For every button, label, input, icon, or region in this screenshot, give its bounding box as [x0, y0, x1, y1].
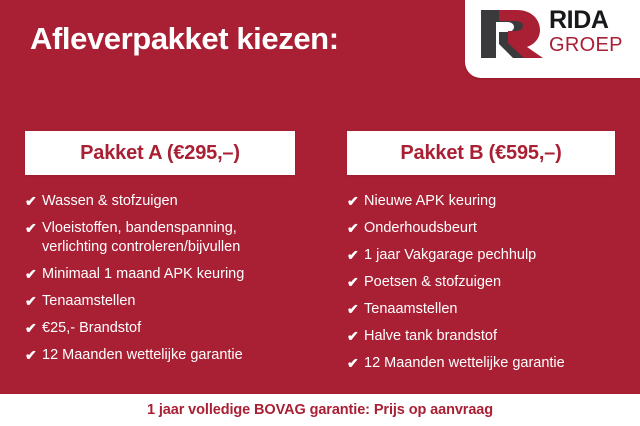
list-item: ✔ 1 jaar Vakgarage pechhulp — [347, 246, 615, 265]
check-icon: ✔ — [347, 246, 364, 265]
footer-banner: 1 jaar volledige BOVAG garantie: Prijs o… — [0, 394, 640, 426]
promo-banner: Afleverpakket kiezen: RIDA GROEP Pakket … — [0, 0, 640, 426]
feature-label: Poetsen & stofzuigen — [364, 273, 615, 292]
list-item: ✔ 12 Maanden wettelijke garantie — [347, 354, 615, 373]
footer-guarantee-text: 1 jaar volledige BOVAG garantie: Prijs o… — [147, 402, 493, 418]
package-card-a[interactable]: Pakket A (€295,–) ✔ Wassen & stofzuigen … — [25, 131, 295, 373]
list-item: ✔ Nieuwe APK keuring — [347, 192, 615, 211]
feature-label: Tenaamstellen — [364, 300, 615, 319]
feature-label: €25,- Brandstof — [42, 319, 295, 338]
logo-name-primary: RIDA — [549, 8, 623, 33]
list-item: ✔ 12 Maanden wettelijke garantie — [25, 346, 295, 365]
check-icon: ✔ — [25, 346, 42, 365]
list-item: ✔ €25,- Brandstof — [25, 319, 295, 338]
package-a-header[interactable]: Pakket A (€295,–) — [25, 131, 295, 175]
feature-label: Nieuwe APK keuring — [364, 192, 615, 211]
package-b-header[interactable]: Pakket B (€595,–) — [347, 131, 615, 175]
feature-label: Halve tank brandstof — [364, 327, 615, 346]
page-title: Afleverpakket kiezen: — [30, 21, 339, 57]
package-b-feature-list: ✔ Nieuwe APK keuring ✔ Onderhoudsbeurt ✔… — [347, 192, 615, 373]
feature-label: Vloeistoffen, bandenspanning, verlichtin… — [42, 219, 295, 257]
feature-label: Minimaal 1 maand APK keuring — [42, 265, 295, 284]
feature-label: 12 Maanden wettelijke garantie — [364, 354, 615, 373]
feature-label: Onderhoudsbeurt — [364, 219, 615, 238]
check-icon: ✔ — [347, 219, 364, 238]
package-a-title: Pakket A (€295,–) — [80, 142, 240, 165]
list-item: ✔ Wassen & stofzuigen — [25, 192, 295, 211]
list-item: ✔ Poetsen & stofzuigen — [347, 273, 615, 292]
feature-label: Wassen & stofzuigen — [42, 192, 295, 211]
list-item: ✔ Tenaamstellen — [347, 300, 615, 319]
logo-name-secondary: GROEP — [549, 34, 623, 56]
list-item: ✔ Minimaal 1 maand APK keuring — [25, 265, 295, 284]
list-item: ✔ Onderhoudsbeurt — [347, 219, 615, 238]
feature-label: 12 Maanden wettelijke garantie — [42, 346, 295, 365]
list-item: ✔ Vloeistoffen, bandenspanning, verlicht… — [25, 219, 295, 257]
feature-label: Tenaamstellen — [42, 292, 295, 311]
check-icon: ✔ — [25, 319, 42, 338]
check-icon: ✔ — [347, 354, 364, 373]
rida-groep-logo: RIDA GROEP — [465, 0, 640, 78]
logo-wordmark: RIDA GROEP — [549, 8, 623, 56]
banner-header: Afleverpakket kiezen: RIDA GROEP — [0, 0, 640, 100]
check-icon: ✔ — [25, 192, 42, 211]
package-a-feature-list: ✔ Wassen & stofzuigen ✔ Vloeistoffen, ba… — [25, 192, 295, 365]
list-item: ✔ Halve tank brandstof — [347, 327, 615, 346]
package-b-title: Pakket B (€595,–) — [400, 142, 561, 165]
check-icon: ✔ — [347, 327, 364, 346]
check-icon: ✔ — [347, 192, 364, 211]
check-icon: ✔ — [25, 265, 42, 284]
check-icon: ✔ — [25, 292, 42, 311]
package-card-b[interactable]: Pakket B (€595,–) ✔ Nieuwe APK keuring ✔… — [347, 131, 615, 381]
check-icon: ✔ — [347, 300, 364, 319]
rida-r-monogram-icon — [477, 8, 545, 60]
check-icon: ✔ — [347, 273, 364, 292]
feature-label: 1 jaar Vakgarage pechhulp — [364, 246, 615, 265]
list-item: ✔ Tenaamstellen — [25, 292, 295, 311]
check-icon: ✔ — [25, 219, 42, 238]
